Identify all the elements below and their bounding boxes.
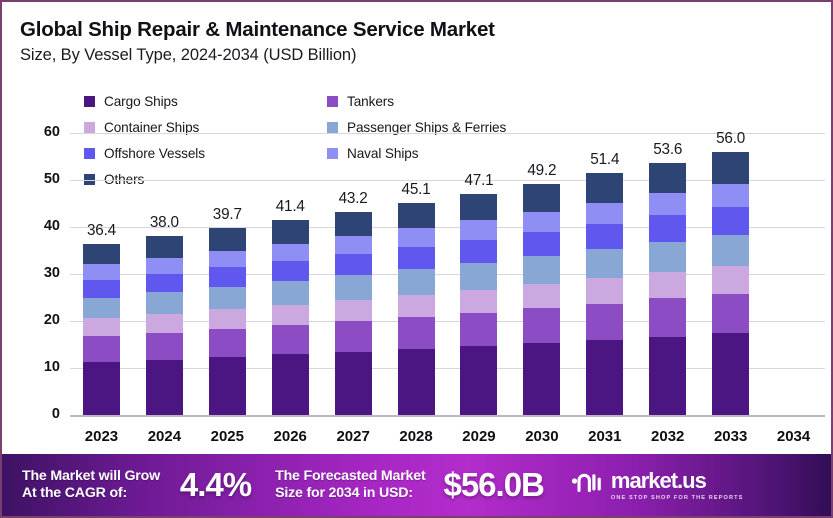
bar-segment-others[interactable] xyxy=(272,220,309,243)
stacked-bar[interactable] xyxy=(209,228,246,415)
market-us-logo-icon xyxy=(570,470,604,500)
footer-banner: The Market will Grow At the CAGR of: 4.4… xyxy=(2,454,833,516)
bar-segment-others[interactable] xyxy=(398,203,435,228)
cagr-caption-line2: At the CAGR of: xyxy=(22,485,160,502)
bar-segment-passenger-ships-ferries[interactable] xyxy=(523,256,560,284)
bar-segment-passenger-ships-ferries[interactable] xyxy=(83,298,120,319)
bar-segment-naval-ships[interactable] xyxy=(460,220,497,240)
stacked-bar[interactable] xyxy=(460,194,497,415)
bar-segment-passenger-ships-ferries[interactable] xyxy=(398,269,435,294)
bar-segment-naval-ships[interactable] xyxy=(523,212,560,233)
bar-column-2033[interactable]: 56.02033 xyxy=(699,2,762,415)
stacked-bar[interactable] xyxy=(272,220,309,415)
bar-segment-cargo-ships[interactable] xyxy=(460,346,497,415)
y-axis-tick-60: 60 xyxy=(14,124,60,140)
chart-plot-area: 0102030405060 36.4202338.0202439.7202541… xyxy=(2,2,833,452)
bar-value-label: 56.0 xyxy=(692,130,770,148)
bar-column-2028[interactable]: 45.12028 xyxy=(385,2,448,415)
y-axis-tick-0: 0 xyxy=(14,406,60,422)
bar-segment-tankers[interactable] xyxy=(335,321,372,352)
forecast-caption: The Forecasted Market Size for 2034 in U… xyxy=(275,468,425,503)
bar-segment-container-ships[interactable] xyxy=(209,309,246,329)
bar-segment-naval-ships[interactable] xyxy=(146,258,183,274)
bar-segment-passenger-ships-ferries[interactable] xyxy=(146,292,183,314)
bar-column-2031[interactable]: 51.42031 xyxy=(573,2,636,415)
forecast-caption-line2: Size for 2034 in USD: xyxy=(275,485,425,502)
bar-segment-others[interactable] xyxy=(586,173,623,202)
bar-segment-tankers[interactable] xyxy=(712,294,749,333)
bar-segment-cargo-ships[interactable] xyxy=(649,337,686,415)
forecast-value: $56.0B xyxy=(443,466,543,504)
bar-segment-container-ships[interactable] xyxy=(398,295,435,318)
bar-column-2029[interactable]: 47.12029 xyxy=(448,2,511,415)
bar-segment-naval-ships[interactable] xyxy=(398,228,435,247)
bar-segment-cargo-ships[interactable] xyxy=(586,340,623,415)
bar-segment-cargo-ships[interactable] xyxy=(712,333,749,415)
bar-segment-cargo-ships[interactable] xyxy=(209,357,246,415)
bar-segment-offshore-vessels[interactable] xyxy=(83,280,120,298)
bar-segment-container-ships[interactable] xyxy=(460,290,497,314)
bar-segment-container-ships[interactable] xyxy=(146,314,183,333)
bar-segment-offshore-vessels[interactable] xyxy=(712,207,749,234)
bar-segment-offshore-vessels[interactable] xyxy=(272,261,309,281)
bar-segment-cargo-ships[interactable] xyxy=(146,360,183,415)
bar-segment-cargo-ships[interactable] xyxy=(398,349,435,415)
bar-column-2023[interactable]: 36.42023 xyxy=(70,2,133,415)
bar-segment-cargo-ships[interactable] xyxy=(83,362,120,415)
bar-segment-cargo-ships[interactable] xyxy=(272,354,309,415)
bar-segment-passenger-ships-ferries[interactable] xyxy=(209,287,246,310)
bar-segment-container-ships[interactable] xyxy=(523,284,560,308)
bar-segment-naval-ships[interactable] xyxy=(209,251,246,268)
bar-segment-offshore-vessels[interactable] xyxy=(335,254,372,275)
bar-segment-naval-ships[interactable] xyxy=(649,193,686,216)
bar-column-2034[interactable]: 2034 xyxy=(762,2,825,415)
bar-segment-offshore-vessels[interactable] xyxy=(523,232,560,256)
bar-segment-others[interactable] xyxy=(523,184,560,212)
bar-segment-passenger-ships-ferries[interactable] xyxy=(460,263,497,290)
bar-segment-others[interactable] xyxy=(460,194,497,220)
bar-segment-tankers[interactable] xyxy=(146,333,183,360)
y-axis-tick-30: 30 xyxy=(14,265,60,281)
bar-column-2032[interactable]: 53.62032 xyxy=(636,2,699,415)
bar-segment-passenger-ships-ferries[interactable] xyxy=(586,249,623,278)
bar-segment-tankers[interactable] xyxy=(586,304,623,340)
bar-segment-others[interactable] xyxy=(209,228,246,250)
stacked-bar[interactable] xyxy=(83,244,120,415)
bar-segment-naval-ships[interactable] xyxy=(83,264,120,280)
bar-segment-others[interactable] xyxy=(712,152,749,184)
stacked-bar[interactable] xyxy=(649,163,686,415)
bar-segment-passenger-ships-ferries[interactable] xyxy=(272,281,309,305)
y-axis-tick-50: 50 xyxy=(14,171,60,187)
y-axis-tick-20: 20 xyxy=(14,312,60,328)
cagr-value: 4.4% xyxy=(180,466,251,504)
bar-segment-container-ships[interactable] xyxy=(712,266,749,294)
stacked-bar[interactable] xyxy=(335,212,372,415)
bar-segment-offshore-vessels[interactable] xyxy=(398,247,435,269)
bar-segment-passenger-ships-ferries[interactable] xyxy=(712,235,749,266)
bar-segment-tankers[interactable] xyxy=(523,308,560,343)
bar-segment-container-ships[interactable] xyxy=(649,272,686,299)
bar-segment-container-ships[interactable] xyxy=(272,305,309,326)
bar-column-2026[interactable]: 41.42026 xyxy=(259,2,322,415)
stacked-bar[interactable] xyxy=(146,236,183,415)
bar-group: 36.4202338.0202439.7202541.4202643.22027… xyxy=(70,2,825,452)
bar-segment-offshore-vessels[interactable] xyxy=(649,215,686,241)
x-axis-label-2034: 2034 xyxy=(755,428,833,445)
bar-segment-offshore-vessels[interactable] xyxy=(586,224,623,249)
bar-segment-others[interactable] xyxy=(146,236,183,257)
bar-segment-cargo-ships[interactable] xyxy=(335,352,372,415)
bar-segment-tankers[interactable] xyxy=(460,313,497,346)
bar-column-2024[interactable]: 38.02024 xyxy=(133,2,196,415)
bar-segment-naval-ships[interactable] xyxy=(272,244,309,261)
bar-segment-tankers[interactable] xyxy=(649,298,686,336)
bar-column-2030[interactable]: 49.22030 xyxy=(510,2,573,415)
bar-segment-cargo-ships[interactable] xyxy=(523,343,560,415)
bar-segment-naval-ships[interactable] xyxy=(335,236,372,254)
bar-segment-tankers[interactable] xyxy=(272,325,309,354)
stacked-bar[interactable] xyxy=(523,184,560,415)
bar-segment-container-ships[interactable] xyxy=(335,300,372,322)
bar-segment-others[interactable] xyxy=(335,212,372,236)
stacked-bar[interactable] xyxy=(586,173,623,415)
bar-column-2027[interactable]: 43.22027 xyxy=(322,2,385,415)
brand-logo[interactable]: market.us ONE STOP SHOP FOR THE REPORTS xyxy=(570,470,744,501)
bar-segment-others[interactable] xyxy=(649,163,686,193)
bar-segment-offshore-vessels[interactable] xyxy=(146,274,183,293)
bar-segment-passenger-ships-ferries[interactable] xyxy=(649,242,686,272)
bar-segment-others[interactable] xyxy=(83,244,120,264)
stacked-bar[interactable] xyxy=(398,203,435,415)
chart-card: Global Ship Repair & Maintenance Service… xyxy=(0,0,833,518)
bar-segment-container-ships[interactable] xyxy=(586,278,623,303)
bar-segment-container-ships[interactable] xyxy=(83,318,120,336)
bar-segment-offshore-vessels[interactable] xyxy=(209,267,246,286)
brand-tagline: ONE STOP SHOP FOR THE REPORTS xyxy=(611,495,744,501)
bar-segment-tankers[interactable] xyxy=(83,336,120,362)
bar-segment-tankers[interactable] xyxy=(398,317,435,349)
bar-segment-naval-ships[interactable] xyxy=(586,203,623,225)
stacked-bar[interactable] xyxy=(712,152,749,415)
bar-segment-passenger-ships-ferries[interactable] xyxy=(335,275,372,299)
y-axis-tick-10: 10 xyxy=(14,359,60,375)
cagr-caption-line1: The Market will Grow xyxy=(22,468,160,485)
bar-segment-naval-ships[interactable] xyxy=(712,184,749,208)
bar-segment-offshore-vessels[interactable] xyxy=(460,240,497,263)
y-axis-tick-40: 40 xyxy=(14,218,60,234)
bar-column-2025[interactable]: 39.72025 xyxy=(196,2,259,415)
cagr-caption: The Market will Grow At the CAGR of: xyxy=(22,468,160,503)
forecast-caption-line1: The Forecasted Market xyxy=(275,468,425,485)
bar-segment-tankers[interactable] xyxy=(209,329,246,357)
brand-name: market.us xyxy=(611,470,744,492)
